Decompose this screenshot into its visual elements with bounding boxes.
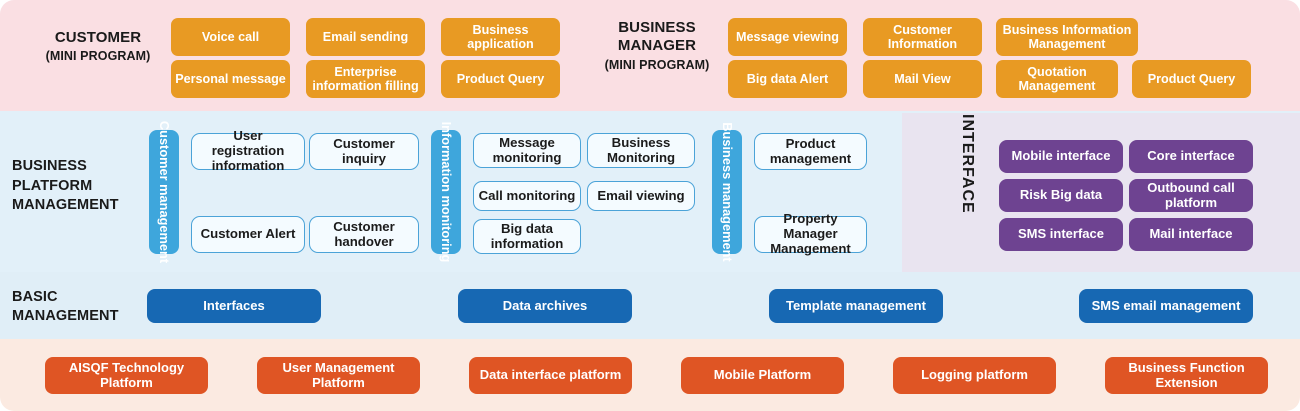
chip-label: Logging platform [921,368,1028,383]
foundation-item-mobile-platform[interactable]: Mobile Platform [681,357,844,394]
business-manager-row-label: BUSINESS MANAGER (MINI PROGRAM) [586,19,728,73]
platform-item-property-manager-management[interactable]: Property Manager Management [754,216,867,253]
customer-item-enterprise-information-filling[interactable]: Enterprise information filling [306,60,425,98]
platform-row-label: BUSINESS PLATFORM MANAGEMENT [12,157,150,216]
business-manager-row-title: BUSINESS MANAGER [618,19,696,54]
chip-label: Data archives [503,299,588,314]
interface-item-outbound-call-platform[interactable]: Outbound call platform [1129,179,1253,212]
chip-label: Business Information Management [1000,23,1134,51]
platform-item-customer-alert[interactable]: Customer Alert [191,216,305,253]
chip-label: Big data Alert [747,72,828,86]
chip-label: Interfaces [203,299,264,314]
chip-label: Personal message [175,72,286,86]
interface-item-core-interface[interactable]: Core interface [1129,140,1253,173]
customer-item-voice-call[interactable]: Voice call [171,18,290,56]
business-manager-row-subtitle: (MINI PROGRAM) [586,58,728,73]
foundation-item-user-management-platform[interactable]: User Management Platform [257,357,420,394]
foundation-item-business-function-extension[interactable]: Business Function Extension [1105,357,1268,394]
platform-item-big-data-information[interactable]: Big data information [473,219,581,254]
vertical-group-label: Customer management [157,121,171,263]
platform-item-call-monitoring[interactable]: Call monitoring [473,181,581,211]
chip-label: Message viewing [736,30,839,44]
interface-panel-label: INTERFACE [956,114,978,204]
customer-row-title: CUSTOMER [55,29,141,46]
chip-label: SMS email management [1092,299,1241,314]
chip-label: Core interface [1147,149,1234,164]
chip-label: Risk Big data [1020,188,1102,203]
chip-label: AISQF Technology Platform [49,361,204,390]
chip-label: Customer inquiry [314,137,414,167]
foundation-item-aisqf-technology-platform[interactable]: AISQF Technology Platform [45,357,208,394]
manager-item-business-information-management[interactable]: Business Information Management [996,18,1138,56]
customer-item-product-query[interactable]: Product Query [441,60,560,98]
customer-row-subtitle: (MINI PROGRAM) [28,49,168,64]
vertical-group-label: Information monitoring [439,122,453,263]
basic-row-label: BASIC MANAGEMENT [12,288,152,326]
interface-item-mobile-interface[interactable]: Mobile interface [999,140,1123,173]
chip-label: Voice call [202,30,259,44]
manager-item-customer-information[interactable]: Customer Information [863,18,982,56]
chip-label: Big data information [478,222,576,252]
chip-label: Business Function Extension [1109,361,1264,390]
basic-item-interfaces[interactable]: Interfaces [147,289,321,323]
platform-item-product-management[interactable]: Product management [754,133,867,170]
foundation-item-data-interface-platform[interactable]: Data interface platform [469,357,632,394]
manager-item-big-data-alert[interactable]: Big data Alert [728,60,847,98]
chip-label: Product Query [457,72,544,86]
chip-label: Email sending [323,30,408,44]
customer-row-label: CUSTOMER (MINI PROGRAM) [28,29,168,65]
basic-item-sms-email-management[interactable]: SMS email management [1079,289,1253,323]
chip-label: SMS interface [1018,227,1104,242]
chip-label: Mail View [894,72,950,86]
chip-label: Customer Information [867,23,978,51]
platform-item-email-viewing[interactable]: Email viewing [587,181,695,211]
customer-item-personal-message[interactable]: Personal message [171,60,290,98]
platform-item-customer-handover[interactable]: Customer handover [309,216,419,253]
platform-group-information-monitoring[interactable]: Information monitoring [431,130,461,254]
chip-label: User registration information [196,129,300,173]
customer-item-email-sending[interactable]: Email sending [306,18,425,56]
manager-item-mail-view[interactable]: Mail View [863,60,982,98]
chip-label: Enterprise information filling [310,65,421,93]
foundation-item-logging-platform[interactable]: Logging platform [893,357,1056,394]
chip-label: Mail interface [1149,227,1232,242]
vertical-group-label: Business management [720,122,734,261]
chip-label: Mobile Platform [714,368,812,383]
chip-label: Email viewing [597,189,684,204]
chip-label: Template management [786,299,926,314]
interface-item-risk-big-data[interactable]: Risk Big data [999,179,1123,212]
platform-item-customer-inquiry[interactable]: Customer inquiry [309,133,419,170]
chip-label: Call monitoring [479,189,576,204]
chip-label: Outbound call platform [1133,181,1249,210]
platform-group-business-management[interactable]: Business management [712,130,742,254]
chip-label: Data interface platform [480,368,622,383]
chip-label: User Management Platform [261,361,416,390]
chip-label: Product management [759,137,862,167]
manager-item-product-query[interactable]: Product Query [1132,60,1251,98]
chip-label: Customer handover [314,220,414,250]
platform-group-customer-management[interactable]: Customer management [149,130,179,254]
interface-item-mail-interface[interactable]: Mail interface [1129,218,1253,251]
basic-item-template-management[interactable]: Template management [769,289,943,323]
platform-item-user-registration-information[interactable]: User registration information [191,133,305,170]
chip-label: Product Query [1148,72,1235,86]
customer-item-business-application[interactable]: Business application [441,18,560,56]
chip-label: Business application [445,23,556,51]
chip-label: Mobile interface [1012,149,1111,164]
platform-item-business-monitoring[interactable]: Business Monitoring [587,133,695,168]
interface-item-sms-interface[interactable]: SMS interface [999,218,1123,251]
architecture-diagram: CUSTOMER (MINI PROGRAM) Voice call Email… [0,0,1300,411]
chip-label: Property Manager Management [759,212,862,256]
basic-item-data-archives[interactable]: Data archives [458,289,632,323]
chip-label: Quotation Management [1000,65,1114,93]
chip-label: Message monitoring [478,136,576,166]
manager-item-quotation-management[interactable]: Quotation Management [996,60,1118,98]
chip-label: Business Monitoring [592,136,690,166]
manager-item-message-viewing[interactable]: Message viewing [728,18,847,56]
chip-label: Customer Alert [201,227,296,242]
platform-item-message-monitoring[interactable]: Message monitoring [473,133,581,168]
